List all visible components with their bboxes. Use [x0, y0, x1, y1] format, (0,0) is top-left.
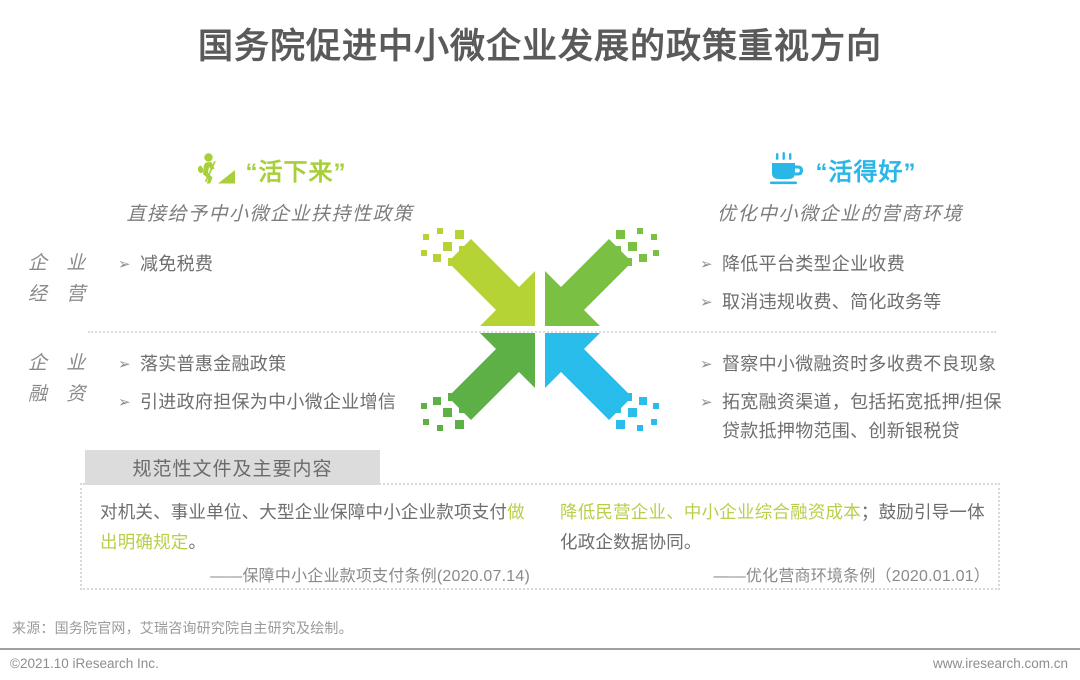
bullet-marker-icon: ➢: [700, 288, 722, 317]
bullet-marker-icon: ➢: [118, 388, 140, 417]
bullet-list-right-row1: ➢ 降低平台类型企业收费 ➢ 取消违规收费、简化政务等: [700, 250, 1020, 317]
bullet-list-left-row1: ➢ 减免税费: [118, 250, 408, 279]
list-item: ➢ 取消违规收费、简化政务等: [700, 288, 1020, 317]
list-item: ➢ 降低平台类型企业收费: [700, 250, 1020, 279]
list-item: ➢ 落实普惠金融政策: [118, 350, 418, 379]
list-item-label: 减免税费: [140, 250, 408, 279]
documents-panel-left-column: 对机关、事业单位、大型企业保障中小企业款项支付做出明确规定。 ——保障中小企业款…: [100, 497, 530, 592]
list-item: ➢ 减免税费: [118, 250, 408, 279]
row-label-business-financing: 企 业 融 资: [28, 348, 92, 410]
row-label-line1: 企 业: [28, 348, 92, 379]
row-label-line2: 融 资: [28, 379, 92, 410]
panel-right-citation: ——优化营商环境条例（2020.01.01）: [560, 562, 990, 592]
source-note: 来源：国务院官网，艾瑞咨询研究院自主研究及绘制。: [12, 618, 353, 638]
row-label-line1: 企 业: [28, 248, 92, 279]
bullet-marker-icon: ➢: [118, 350, 140, 379]
list-item-label: 降低平台类型企业收费: [722, 250, 1020, 279]
footer-copyright: ©2021.10 iResearch Inc.: [10, 656, 159, 671]
footer-website[interactable]: www.iresearch.com.cn: [933, 656, 1068, 671]
documents-panel-right-column: 降低民营企业、中小企业综合融资成本；鼓励引导一体化政企数据协同。 ——优化营商环…: [560, 497, 990, 592]
bullet-marker-icon: ➢: [700, 250, 722, 279]
panel-right-highlight: 降低民营企业、中小企业综合融资成本: [560, 502, 861, 522]
panel-left-text: 对机关、事业单位、大型企业保障中小企业款项支付做出明确规定。: [100, 497, 530, 557]
bullet-list-right-row2: ➢ 督察中小微融资时多收费不良现象 ➢ 拓宽融资渠道，包括拓宽抵押/担保贷款抵押…: [700, 350, 1020, 446]
column-title-left: “活下来”: [246, 152, 347, 187]
coffee-cup-icon: [764, 152, 806, 186]
list-item-label: 落实普惠金融政策: [140, 350, 418, 379]
list-item: ➢ 引进政府担保为中小微企业增信: [118, 388, 418, 417]
column-subtitle-right: 优化中小微企业的营商环境: [640, 199, 1040, 226]
list-item-label: 拓宽融资渠道，包括拓宽抵押/担保贷款抵押物范围、创新银税贷: [722, 388, 1020, 446]
list-item-label: 引进政府担保为中小微企业增信: [140, 388, 418, 417]
list-item: ➢ 督察中小微融资时多收费不良现象: [700, 350, 1020, 379]
column-header-left: “活下来” 直接给予中小微企业扶持性政策: [40, 148, 500, 226]
panel-right-text: 降低民营企业、中小企业综合融资成本；鼓励引导一体化政企数据协同。: [560, 497, 990, 557]
column-header-right: “活得好” 优化中小微企业的营商环境: [640, 148, 1040, 226]
list-item: ➢ 拓宽融资渠道，包括拓宽抵押/担保贷款抵押物范围、创新银税贷: [700, 388, 1020, 446]
bullet-marker-icon: ➢: [700, 350, 722, 379]
panel-left-text-before: 对机关、事业单位、大型企业保障中小企业款项支付: [100, 502, 507, 522]
four-arrow-converging-x-graphic: [415, 222, 665, 437]
page-title: 国务院促进中小微企业发展的政策重视方向: [0, 18, 1080, 69]
footer-divider: [0, 648, 1080, 650]
documents-panel-tab: 规范性文件及主要内容: [85, 450, 380, 485]
bullet-marker-icon: ➢: [700, 388, 722, 417]
hiker-climbing-icon: [194, 152, 236, 186]
documents-panel-tab-label: 规范性文件及主要内容: [132, 454, 332, 481]
column-title-right: “活得好”: [816, 152, 917, 187]
row-label-line2: 经 营: [28, 279, 92, 310]
row-label-business-operation: 企 业 经 营: [28, 248, 92, 310]
list-item-label: 督察中小微融资时多收费不良现象: [722, 350, 1020, 379]
bullet-list-left-row2: ➢ 落实普惠金融政策 ➢ 引进政府担保为中小微企业增信: [118, 350, 418, 417]
panel-left-citation: ——保障中小企业款项支付条例(2020.07.14): [100, 562, 530, 592]
panel-left-text-after: 。: [189, 532, 207, 552]
list-item-label: 取消违规收费、简化政务等: [722, 288, 1020, 317]
bullet-marker-icon: ➢: [118, 250, 140, 279]
